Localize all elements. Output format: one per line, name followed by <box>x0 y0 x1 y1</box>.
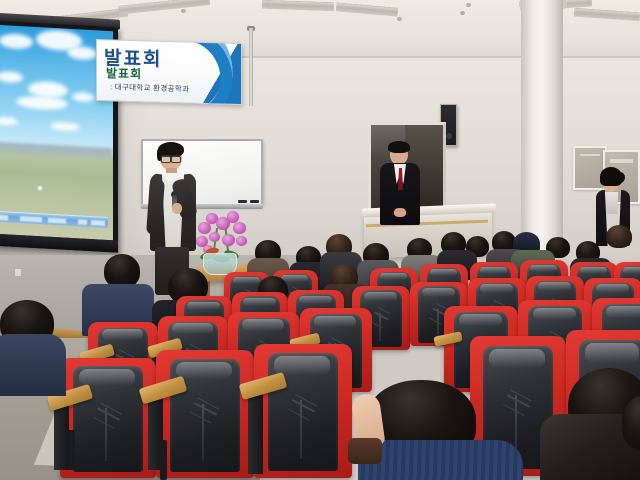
banner-organization: : 대구대학교 환경공학과 <box>110 81 189 94</box>
audience-head <box>606 225 632 248</box>
foreground-person-right-edge <box>622 396 640 480</box>
whiteboard-marker <box>238 200 247 203</box>
eyeglasses-icon <box>161 155 181 160</box>
banner-subtitle: 발표회 <box>106 64 142 82</box>
seat <box>156 350 254 478</box>
woman-hair-bun <box>615 172 625 183</box>
ceiling-sensor-icon <box>466 3 471 7</box>
field-marker <box>38 186 42 190</box>
ceiling-sensor-icon <box>181 9 186 13</box>
ceiling-sensor-icon <box>397 17 402 21</box>
event-banner: 발표회 발표회 : 대구대학교 환경공학과 <box>96 39 242 105</box>
armrest-post <box>248 390 263 474</box>
wall-panel-slot <box>610 159 632 163</box>
orchid-bloom <box>209 232 220 242</box>
support-column <box>521 0 563 250</box>
orchid-bloom <box>222 234 235 246</box>
horizon-line <box>0 142 113 161</box>
foreground-head <box>622 396 640 450</box>
seminar-hall-photo: 발표회 발표회 : 대구대학교 환경공학과 <box>0 0 640 480</box>
woman-inner-top <box>605 192 618 214</box>
projected-taskbar <box>0 211 108 228</box>
foreground-raised-hand <box>348 394 394 464</box>
orchid-bloom <box>236 236 247 246</box>
whiteboard-marker <box>250 200 259 203</box>
man-in-suit <box>379 142 421 237</box>
wrist-sleeve <box>348 438 382 464</box>
banner-pole <box>249 28 253 106</box>
suit-man-hands <box>394 208 406 217</box>
seat <box>254 344 352 478</box>
presenter-hand <box>172 203 182 214</box>
seat-leg <box>68 430 75 470</box>
audience-head <box>104 254 140 288</box>
orchid-bloom <box>233 222 246 234</box>
ceiling-sensor-icon <box>460 11 465 15</box>
foreground-person-left <box>0 300 80 390</box>
banner-swoosh-graphic <box>177 39 242 105</box>
wall-panel-slot <box>580 154 600 157</box>
foreground-torso <box>0 334 66 396</box>
suit-man-hair <box>388 141 410 153</box>
wall-outlet-icon <box>14 268 22 277</box>
seat-leg <box>160 440 167 480</box>
